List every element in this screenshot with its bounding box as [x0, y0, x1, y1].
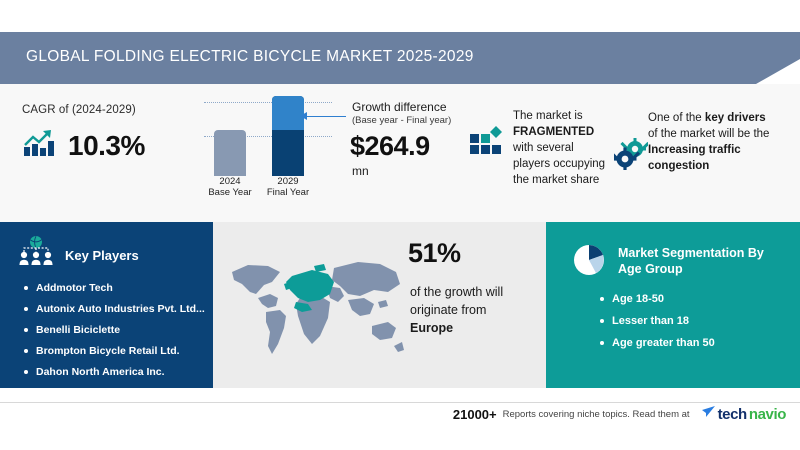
world-map-icon: [228, 252, 408, 367]
bar-base-year: [214, 130, 246, 176]
growth-difference-value: $264.9: [350, 131, 430, 162]
key-drivers-text: One of the key drivers of the market wil…: [648, 110, 788, 174]
drivers-emphasis1: key drivers: [705, 112, 766, 124]
region-emphasis: Europe: [410, 321, 453, 335]
footer-report-count: 21000+: [453, 407, 497, 422]
region-percent: 51%: [408, 238, 461, 269]
region-description: of the growth will originate from Europe: [410, 283, 530, 337]
gridline-top: [204, 102, 332, 103]
bar-label-final-sub: Final Year: [257, 187, 319, 198]
fragmented-line3: players occupying: [513, 158, 605, 170]
segmentation-title: Market Segmentation By Age Group: [618, 243, 783, 277]
growth-difference-subtitle: (Base year - Final year): [352, 115, 451, 126]
cagr-label: CAGR of (2024-2029): [22, 104, 136, 116]
cagr-value: 10.3%: [68, 130, 145, 162]
bar-label-base-year: 2024: [199, 176, 261, 187]
list-item: Benelli Biciclette: [22, 320, 205, 341]
growth-difference-title: Growth difference: [352, 100, 447, 114]
footer: 21000+ Reports covering niche topics. Re…: [453, 405, 786, 424]
logo-text-tech: tech: [718, 406, 747, 423]
segmentation-list: Age 18-50 Lesser than 18 Age greater tha…: [598, 288, 715, 354]
key-players-list: Addmotor Tech Autonix Auto Industries Pv…: [22, 278, 205, 383]
callout-arrow-icon: [300, 112, 307, 120]
list-item: Addmotor Tech: [22, 278, 205, 299]
org-chart-globe-icon: [16, 236, 56, 275]
bar-label-final: 2029 Final Year: [257, 176, 319, 198]
key-players-header: Key Players: [16, 236, 139, 275]
region-line1: of the growth will: [410, 285, 503, 299]
bar-final-year: [272, 96, 304, 176]
logo-text-navio: navio: [749, 406, 786, 423]
fragmented-line2: with several: [513, 142, 574, 154]
fragmented-emphasis: FRAGMENTED: [513, 126, 594, 138]
segmentation-header: Market Segmentation By Age Group: [572, 243, 783, 282]
growth-chart-icon: [22, 128, 58, 163]
bar-label-base-sub: Base Year: [199, 187, 261, 198]
infographic-canvas: GLOBAL FOLDING ELECTRIC BICYCLE MARKET 2…: [0, 0, 800, 450]
page-title: GLOBAL FOLDING ELECTRIC BICYCLE MARKET 2…: [26, 48, 474, 66]
list-item: Age greater than 50: [598, 332, 715, 354]
drivers-line2: of the market will be the: [648, 128, 769, 140]
fragmented-line1: The market is: [513, 110, 583, 122]
technavio-logo[interactable]: technavio: [702, 405, 786, 424]
key-players-title: Key Players: [65, 248, 139, 263]
cagr-block: 10.3%: [22, 128, 145, 163]
growth-bar-chart: 2024 Base Year 2029 Final Year: [200, 98, 332, 198]
bar-label-base: 2024 Base Year: [199, 176, 261, 198]
list-item: Brompton Bicycle Retail Ltd.: [22, 341, 205, 362]
callout-line: [306, 116, 346, 117]
footer-divider: [0, 402, 800, 403]
fragmented-line4: the market share: [513, 174, 599, 186]
growth-difference-unit: mn: [352, 164, 369, 178]
fragmented-squares-icon: [469, 126, 505, 165]
list-item: Dahon North America Inc.: [22, 362, 205, 383]
gears-icon: [614, 138, 648, 175]
paper-plane-icon: [702, 405, 716, 424]
pie-chart-icon: [572, 243, 606, 282]
list-item: Lesser than 18: [598, 310, 715, 332]
bar-label-final-year: 2029: [257, 176, 319, 187]
list-item: Autonix Auto Industries Pvt. Ltd...: [22, 299, 205, 320]
drivers-line1: One of the: [648, 112, 702, 124]
region-line2: originate from: [410, 303, 486, 317]
list-item: Age 18-50: [598, 288, 715, 310]
footer-text: Reports covering niche topics. Read them…: [503, 409, 690, 420]
drivers-emphasis2: Increasing traffic congestion: [648, 144, 741, 172]
